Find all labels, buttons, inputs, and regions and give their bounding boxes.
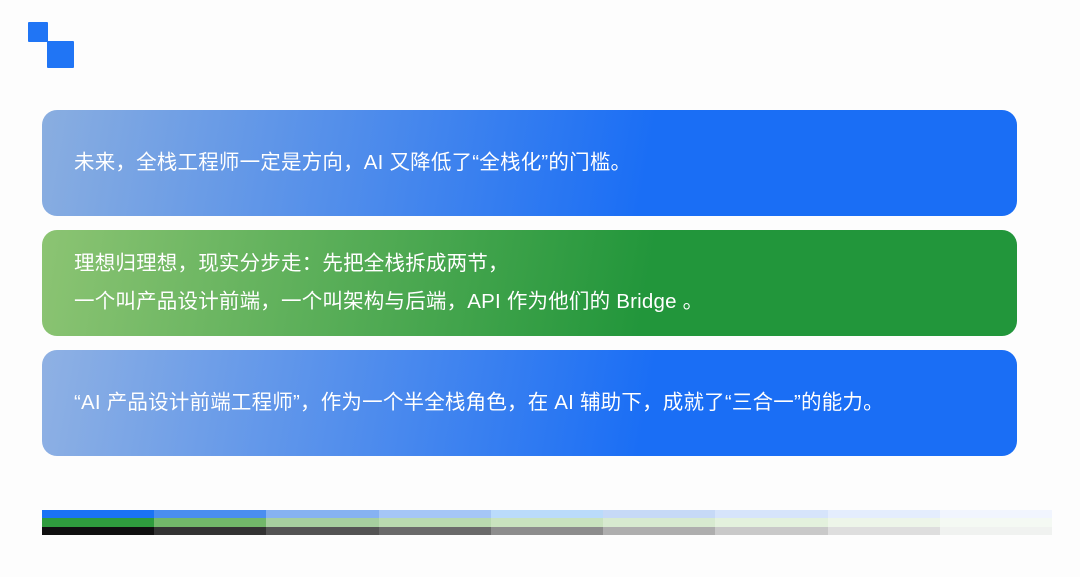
statement-card-blue-bottom: “AI 产品设计前端工程师”，作为一个半全栈角色，在 AI 辅助下，成就了“三合… (42, 350, 1017, 456)
palette-swatch (603, 527, 715, 535)
card-text-line: 未来，全栈工程师一定是方向，AI 又降低了“全栈化”的门槛。 (74, 144, 985, 182)
card-text-line: 一个叫产品设计前端，一个叫架构与后端，API 作为他们的 Bridge 。 (74, 283, 985, 321)
palette-swatch (42, 510, 154, 518)
palette-swatch (154, 527, 266, 535)
palette-swatch (715, 527, 827, 535)
color-palette-bar (42, 510, 1052, 535)
logo-square-small-icon (28, 22, 48, 42)
brand-logo (28, 22, 90, 64)
palette-swatch (940, 518, 1052, 526)
palette-swatch (715, 510, 827, 518)
palette-swatch (42, 527, 154, 535)
palette-swatch (266, 510, 378, 518)
statement-card-list: 未来，全栈工程师一定是方向，AI 又降低了“全栈化”的门槛。 理想归理想，现实分… (42, 110, 1017, 456)
palette-swatch (42, 518, 154, 526)
palette-swatch (828, 527, 940, 535)
palette-swatch (603, 518, 715, 526)
palette-swatch (491, 510, 603, 518)
palette-swatch (379, 527, 491, 535)
palette-swatch (828, 510, 940, 518)
palette-swatch (491, 527, 603, 535)
palette-swatch (603, 510, 715, 518)
palette-row-green (42, 518, 1052, 526)
card-text-line: 理想归理想，现实分步走：先把全栈拆成两节， (74, 245, 985, 283)
palette-swatch (154, 518, 266, 526)
palette-swatch (154, 510, 266, 518)
palette-swatch (715, 518, 827, 526)
palette-swatch (940, 527, 1052, 535)
palette-swatch (266, 518, 378, 526)
card-text-line: “AI 产品设计前端工程师”，作为一个半全栈角色，在 AI 辅助下，成就了“三合… (74, 384, 985, 422)
palette-swatch (379, 518, 491, 526)
palette-swatch (266, 527, 378, 535)
statement-card-blue-top: 未来，全栈工程师一定是方向，AI 又降低了“全栈化”的门槛。 (42, 110, 1017, 216)
logo-square-large-icon (47, 41, 74, 68)
statement-card-green-middle: 理想归理想，现实分步走：先把全栈拆成两节， 一个叫产品设计前端，一个叫架构与后端… (42, 230, 1017, 336)
palette-swatch (828, 518, 940, 526)
palette-swatch (491, 518, 603, 526)
palette-swatch (379, 510, 491, 518)
palette-swatch (940, 510, 1052, 518)
palette-row-blue (42, 510, 1052, 518)
palette-row-neutral (42, 527, 1052, 535)
